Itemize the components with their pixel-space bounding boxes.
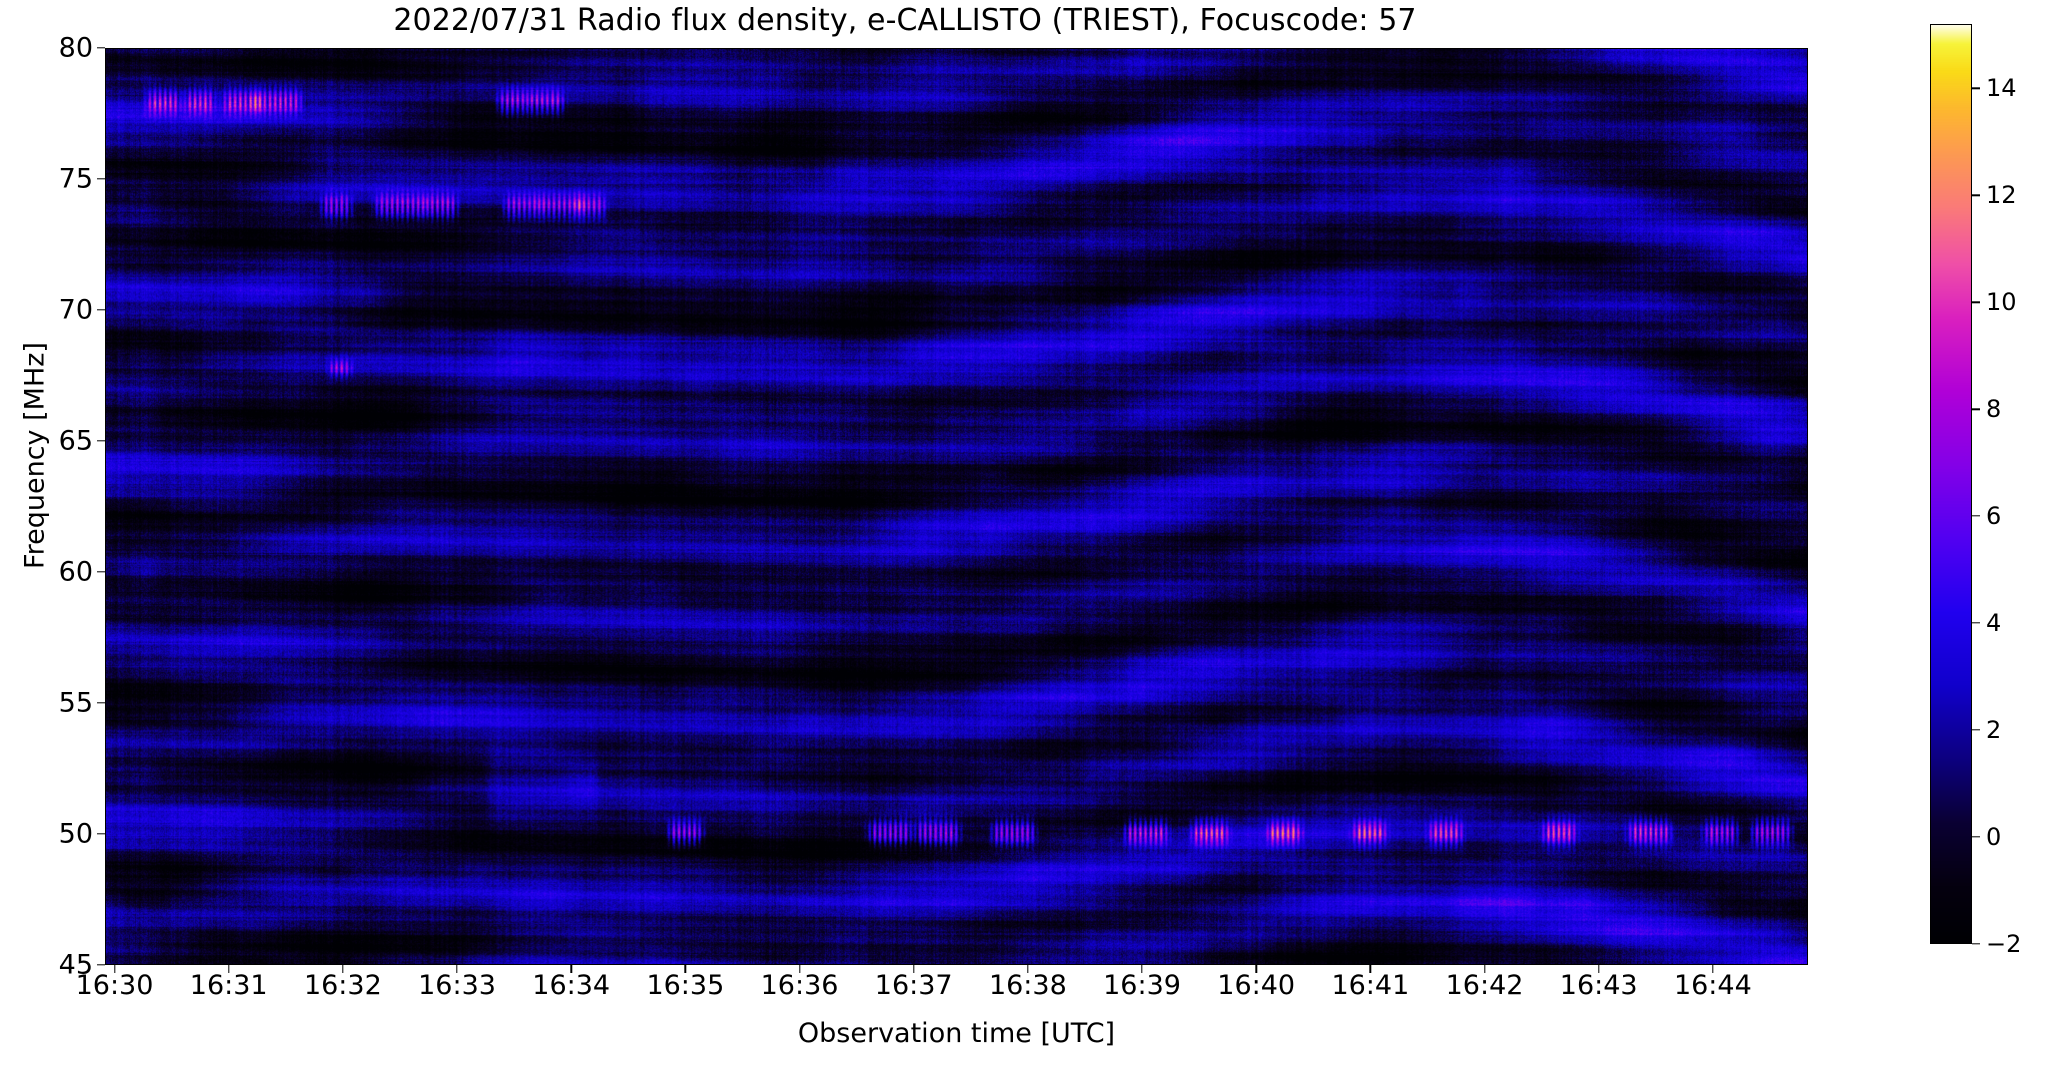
spectrogram-figure: 2022/07/31 Radio flux density, e-CALLIST… xyxy=(0,0,2047,1067)
x-tick-label: 16:36 xyxy=(761,970,839,1001)
y-tick-mark xyxy=(97,964,105,965)
colorbar-tick-mark xyxy=(1972,194,1980,195)
colorbar-tick-label: 0 xyxy=(1986,823,2001,851)
colorbar-tick-mark xyxy=(1972,408,1980,409)
colorbar-tick-mark xyxy=(1972,729,1980,730)
colorbar-tick-label: 6 xyxy=(1986,502,2001,530)
y-tick-label: 60 xyxy=(59,557,93,588)
y-axis-label: Frequency [MHz] xyxy=(20,0,51,946)
colorbar-tick-mark xyxy=(1972,943,1980,944)
y-tick-label: 65 xyxy=(59,426,93,457)
x-tick-label: 16:33 xyxy=(418,970,496,1001)
y-tick-label: 70 xyxy=(59,295,93,326)
colorbar-tick-mark xyxy=(1972,301,1980,302)
colorbar-tick-mark xyxy=(1972,836,1980,837)
y-tick-mark xyxy=(97,309,105,310)
y-tick-label: 55 xyxy=(59,688,93,719)
colorbar-tick-mark xyxy=(1972,87,1980,88)
y-tick-mark xyxy=(97,47,105,48)
x-tick-label: 16:43 xyxy=(1560,970,1638,1001)
x-tick-label: 16:37 xyxy=(875,970,953,1001)
colorbar-tick-label: 12 xyxy=(1986,181,2017,209)
y-tick-label: 50 xyxy=(59,819,93,850)
colorbar-tick-mark xyxy=(1972,622,1980,623)
x-tick-label: 16:42 xyxy=(1446,970,1524,1001)
colorbar-tick-label: −2 xyxy=(1986,930,2021,958)
y-tick-mark xyxy=(97,702,105,703)
x-tick-label: 16:30 xyxy=(76,970,154,1001)
x-tick-label: 16:39 xyxy=(1103,970,1181,1001)
x-tick-label: 16:40 xyxy=(1217,970,1295,1001)
x-tick-label: 16:35 xyxy=(646,970,724,1001)
colorbar-tick-mark xyxy=(1972,515,1980,516)
colorbar-gradient xyxy=(1931,25,1971,943)
colorbar-tick-label: 2 xyxy=(1986,716,2001,744)
x-tick-label: 16:38 xyxy=(989,970,1067,1001)
y-tick-label: 75 xyxy=(59,164,93,195)
colorbar-tick-label: 10 xyxy=(1986,288,2017,316)
x-tick-label: 16:41 xyxy=(1331,970,1409,1001)
colorbar-tick-label: 14 xyxy=(1986,74,2017,102)
x-tick-label: 16:32 xyxy=(304,970,382,1001)
colorbar-tick-label: 4 xyxy=(1986,609,2001,637)
page-title: 2022/07/31 Radio flux density, e-CALLIST… xyxy=(0,4,1810,38)
colorbar-tick-label: 8 xyxy=(1986,395,2001,423)
x-tick-label: 16:34 xyxy=(532,970,610,1001)
x-tick-label: 16:31 xyxy=(190,970,268,1001)
y-tick-mark xyxy=(97,571,105,572)
y-tick-label: 80 xyxy=(59,33,93,64)
y-tick-mark xyxy=(97,833,105,834)
x-tick-label: 16:44 xyxy=(1674,970,1752,1001)
y-tick-mark xyxy=(97,440,105,441)
plot-area[interactable] xyxy=(105,48,1808,965)
x-axis-label: Observation time [UTC] xyxy=(105,1018,1808,1049)
spectrogram-canvas xyxy=(106,49,1807,964)
y-tick-mark xyxy=(97,178,105,179)
colorbar[interactable] xyxy=(1930,24,1972,944)
